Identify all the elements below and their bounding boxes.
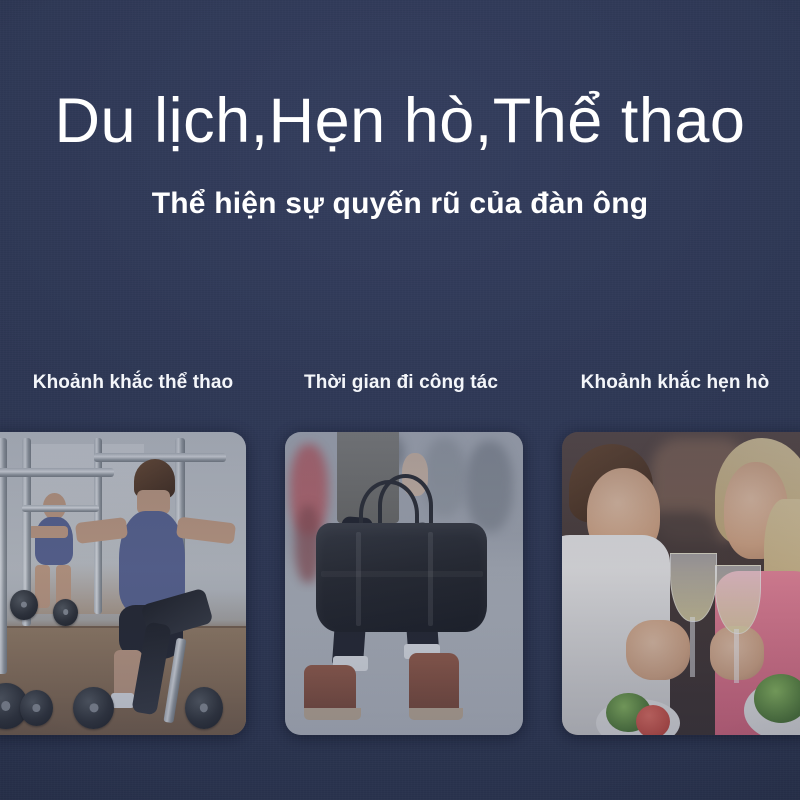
photo-panel-dating[interactable] (562, 432, 800, 735)
panel-caption-business-travel: Thời gian đi công tác (304, 372, 498, 394)
photo-panel-business-travel[interactable] (285, 432, 523, 735)
photo-panel-sports[interactable] (0, 432, 246, 735)
panel-caption-dating: Khoảnh khắc hẹn hò (581, 372, 770, 394)
gym-workout-photo (0, 432, 246, 735)
page-title: Du lịch,Hẹn hò,Thể thao (0, 88, 800, 155)
travel-duffel-bag-photo (285, 432, 523, 735)
panel-caption-sports: Khoảnh khắc thể thao (33, 372, 233, 394)
page-subtitle: Thể hiện sự quyến rũ của đàn ông (0, 186, 800, 222)
couple-dining-toast-photo (562, 432, 800, 735)
promo-banner: Du lịch,Hẹn hò,Thể thao Thể hiện sự quyế… (0, 0, 800, 800)
